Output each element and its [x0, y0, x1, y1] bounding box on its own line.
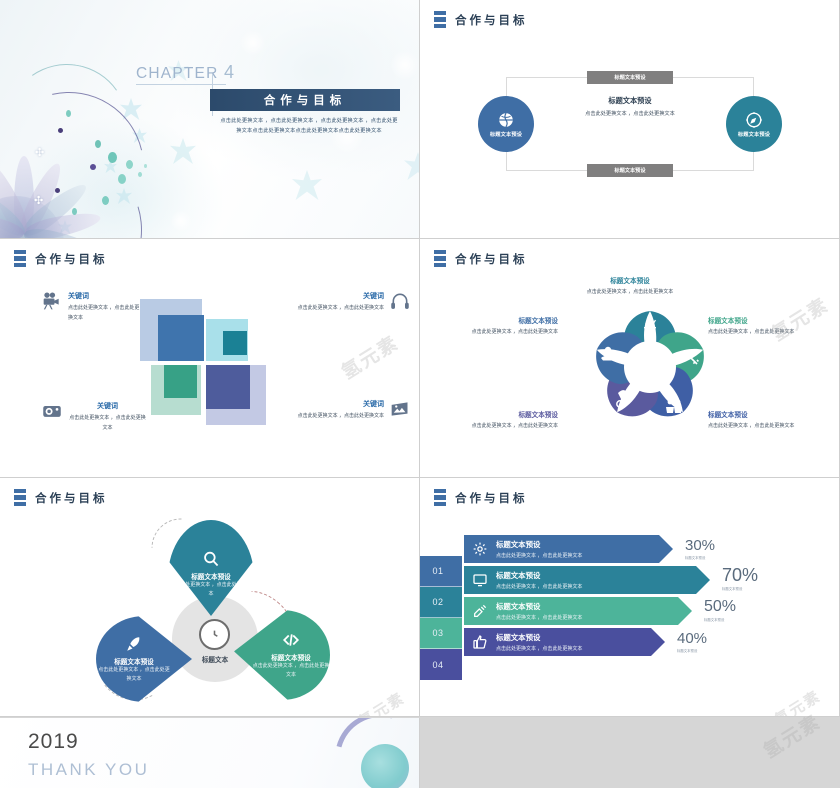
slide-header-title: 合作与目标 — [455, 251, 528, 267]
arrow-text-group: 标题文本预设 点击此处更换文本 ，点击此处更换文本 — [496, 539, 582, 559]
monitor-icon — [472, 572, 488, 588]
petal-title: 标题文本预设 — [271, 652, 311, 662]
movie-camera-icon — [42, 291, 62, 311]
slide-header-title: 合作与目标 — [455, 12, 528, 28]
slide-7-thank-you[interactable]: 2019 THANK YOU — [0, 718, 420, 788]
decor-ball — [361, 744, 409, 788]
header-bars-icon — [434, 489, 446, 506]
code-icon — [281, 631, 301, 649]
relationship-diagram: 标题文本预设 标题文本预设 标题文本预设 点击此处更换文本 ，点击此处更换文本 — [420, 40, 840, 235]
square-green — [164, 365, 197, 398]
cover-title-bar: 合作与目标 — [210, 89, 400, 111]
pinwheel-label-left[interactable]: 标题文本预设 点击此处更换文本 ，点击此处更换文本 — [436, 315, 558, 337]
watermark: 氢元素 — [354, 687, 408, 717]
arrow-body: 点击此处更换文本 ，点击此处更换文本 — [496, 645, 582, 652]
photo-icon — [390, 399, 410, 419]
keyword-title: 关键词 — [298, 291, 384, 301]
percent-sublabel: 标题文本预设 — [722, 586, 758, 591]
center-body: 点击此处更换文本 ，点击此处更换文本 — [562, 110, 698, 119]
percent-block-4: 40% 标题文本预设 — [677, 631, 707, 653]
arrow-text-group: 标题文本预设 点击此处更换文本 ，点击此处更换文本 — [496, 632, 582, 652]
arrow-row-3[interactable]: 标题文本预设 点击此处更换文本 ，点击此处更换文本 — [464, 597, 692, 625]
chapter-label: CHAPTER 4 — [136, 62, 235, 83]
arrow-row-1[interactable]: 标题文本预设 点击此处更换文本 ，点击此处更换文本 — [464, 535, 673, 563]
arrow-title: 标题文本预设 — [496, 601, 582, 612]
decor-dot — [90, 164, 96, 170]
watermark: 氢元素 — [770, 685, 824, 717]
number-tab-02[interactable]: 02 — [420, 587, 462, 618]
percent-block-2: 70% 标题文本预设 — [722, 566, 758, 591]
headphones-icon — [390, 291, 410, 311]
arrow-body: 点击此处更换文本 ，点击此处更换文本 — [496, 552, 582, 559]
percent-sublabel: 标题文本预设 — [685, 555, 715, 560]
pinwheel-label-bottom-left[interactable]: 标题文本预设 点击此处更换文本 ，点击此处更换文本 — [436, 409, 558, 431]
percent-block-3: 50% 标题文本预设 — [704, 599, 736, 622]
number-tab-label: 01 — [432, 566, 443, 576]
pinwheel-label-title: 标题文本预设 — [436, 315, 558, 325]
pinwheel-label-bottom-right[interactable]: 标题文本预设 点击此处更换文本 ，点击此处更换文本 — [708, 409, 830, 431]
arrow-row-4[interactable]: 标题文本预设 点击此处更换文本 ，点击此处更换文本 — [464, 628, 665, 656]
pinwheel-diagram — [586, 301, 714, 431]
pinwheel-label-title: 标题文本预设 — [708, 409, 830, 419]
slide-4-five-blade-pinwheel[interactable]: 合作与目标 — [420, 239, 840, 478]
percent-value: 70% — [722, 566, 758, 584]
slide-header-title: 合作与目标 — [35, 490, 108, 506]
decor-dot — [58, 128, 63, 133]
keyword-text-group: 关键词 点击此处更换文本 ，点击此处更换文本 — [298, 399, 384, 422]
slide-header: 合作与目标 — [14, 489, 108, 506]
keyword-body: 点击此处更换文本 ，点击此处更换文本 — [298, 304, 384, 314]
chapter-number: 4 — [224, 62, 235, 82]
slide-header: 合作与目标 — [434, 489, 528, 506]
keyword-title: 关键词 — [68, 291, 140, 301]
square-purple — [206, 365, 250, 409]
right-circle-label: 标题文本预设 — [738, 131, 770, 138]
pinwheel-glyph-top — [644, 320, 656, 333]
decorative-squares-cluster — [140, 299, 270, 424]
chapter-word: CHAPTER — [136, 65, 218, 82]
decor-dot — [118, 174, 126, 184]
keyword-text-group: 关键词 点击此处更换文本 ，点击此处更换文本 — [68, 401, 147, 433]
pinwheel-label-title: 标题文本预设 — [708, 315, 830, 325]
percent-block-1: 30% 标题文本预设 — [685, 538, 715, 560]
percent-value: 40% — [677, 631, 707, 646]
keyword-block-bottom-right[interactable]: 关键词 点击此处更换文本 ，点击此处更换文本 — [280, 399, 410, 422]
percent-value: 30% — [685, 538, 715, 553]
pinwheel-label-body: 点击此处更换文本 ，点击此处更换文本 — [550, 288, 710, 297]
thumbsup-icon — [472, 634, 488, 650]
keyword-title: 关键词 — [298, 399, 384, 409]
slides-grid: ✣ ✣ CHAPTER 4 合作与目标 点击此处更换文本 ，点击此处更换文本 ，… — [0, 0, 840, 717]
pinwheel-label-right[interactable]: 标题文本预设 点击此处更换文本 ，点击此处更换文本 — [708, 315, 830, 337]
slide-header-title: 合作与目标 — [455, 490, 528, 506]
cover-body-text: 点击此处更换文本 ，点击此处更换文本 ，点击此处更换文本 ，点击此处更换文本点击… — [218, 117, 400, 136]
pinwheel-label-title: 标题文本预设 — [436, 409, 558, 419]
arrow-text-group: 标题文本预设 点击此处更换文本 ，点击此处更换文本 — [496, 570, 582, 590]
watermark: 氢元素 — [336, 328, 404, 384]
arrow-row-2[interactable]: 标题文本预设 点击此处更换文本 ，点击此处更换文本 — [464, 566, 710, 594]
header-bars-icon — [14, 250, 26, 267]
center-clock-badge — [199, 619, 230, 650]
pinwheel-label-body: 点击此处更换文本 ，点击此处更换文本 — [436, 422, 558, 431]
decor-dot — [102, 196, 109, 205]
search-icon — [202, 550, 220, 568]
right-circle-node[interactable]: 标题文本预设 — [726, 96, 782, 152]
header-bars-icon — [14, 489, 26, 506]
arrow-title: 标题文本预设 — [496, 632, 582, 643]
compass-icon — [745, 111, 763, 129]
pinwheel-label-body: 点击此处更换文本 ，点击此处更换文本 — [436, 328, 558, 337]
pinwheel-label-title: 标题文本预设 — [550, 275, 710, 285]
petal-title: 标题文本预设 — [191, 571, 231, 581]
decor-dot — [55, 188, 60, 193]
clock-icon — [206, 626, 223, 643]
top-label-text: 标题文本预设 — [614, 74, 645, 81]
keyword-text-group: 关键词 点击此处更换文本 ，点击此处更换文本 — [68, 291, 140, 323]
center-label: 标题文本 — [175, 654, 255, 664]
decor-dot — [72, 208, 77, 215]
petal-title: 标题文本预设 — [114, 656, 154, 666]
cover-title: 合作与目标 — [264, 92, 347, 108]
number-tab-label: 04 — [432, 660, 443, 670]
number-tab-label: 03 — [432, 628, 443, 638]
keyword-block-top-left[interactable]: 关键词 点击此处更换文本 ，点击此处更换文本 — [42, 291, 140, 323]
keyword-body: 点击此处更换文本 ，点击此处更换文本 — [68, 304, 140, 323]
keyword-block-bottom-left[interactable]: 关键词 点击此处更换文本 ，点击此处更换文本 — [42, 401, 147, 433]
slide-header-title: 合作与目标 — [35, 251, 108, 267]
decor-dot — [138, 172, 142, 177]
petal-body: 点击此处更换文本 ，点击此处更换文本 — [96, 666, 172, 684]
slide-header: 合作与目标 — [434, 11, 528, 28]
keyword-body: 点击此处更换文本 ，点击此处更换文本 — [68, 414, 147, 433]
thanks-decoration — [335, 718, 420, 788]
keyword-body: 点击此处更换文本 ，点击此处更换文本 — [298, 412, 384, 422]
left-circle-node[interactable]: 标题文本预设 — [478, 96, 534, 152]
pinwheel-hollow-center — [624, 341, 676, 393]
square-blue — [158, 315, 204, 361]
percent-sublabel: 标题文本预设 — [677, 648, 707, 653]
arrow-body: 点击此处更换文本 ，点击此处更换文本 — [496, 614, 582, 621]
gear-icon — [472, 541, 488, 557]
decor-dot — [108, 152, 117, 163]
center-text-block: 标题文本预设 点击此处更换文本 ，点击此处更换文本 — [562, 96, 698, 119]
pinwheel-label-body: 点击此处更换文本 ，点击此处更换文本 — [708, 422, 830, 431]
bottom-label-bar[interactable]: 标题文本预设 — [587, 164, 673, 177]
square-teal — [223, 331, 247, 355]
number-tab-label: 02 — [432, 597, 443, 607]
slide-1-chapter-cover[interactable]: ✣ ✣ CHAPTER 4 合作与目标 点击此处更换文本 ，点击此处更换文本 ，… — [0, 0, 420, 239]
arrow-text-group: 标题文本预设 点击此处更换文本 ，点击此处更换文本 — [496, 601, 582, 621]
arrow-title: 标题文本预设 — [496, 539, 582, 550]
center-title: 标题文本预设 — [562, 96, 698, 106]
globe-icon — [497, 111, 515, 129]
keyword-text-group: 关键词 点击此处更换文本 ，点击此处更换文本 — [298, 291, 384, 314]
slide-5-three-petal[interactable]: 合作与目标 标题文本预设 点击此处更换文本 ，点击此处更换文本 — [0, 478, 420, 717]
pinwheel-label-top[interactable]: 标题文本预设 点击此处更换文本 ，点击此处更换文本 — [550, 275, 710, 297]
slide-thumbnail-board: ✣ ✣ CHAPTER 4 合作与目标 点击此处更换文本 ，点击此处更换文本 ，… — [0, 0, 840, 788]
rocket-icon — [125, 635, 143, 653]
pinwheel-label-body: 点击此处更换文本 ，点击此处更换文本 — [708, 328, 830, 337]
header-bars-icon — [434, 250, 446, 267]
arrow-title: 标题文本预设 — [496, 570, 582, 581]
year-label: 2019 — [28, 730, 79, 754]
slide-6-arrow-list[interactable]: 合作与目标 01 02 03 04 标题文本预设 点击此处更换文本 ，点击此处更… — [420, 478, 840, 717]
header-bars-icon — [434, 11, 446, 28]
camera-icon — [42, 401, 62, 421]
number-tab-04[interactable]: 04 — [420, 649, 462, 680]
decor-dot — [95, 140, 101, 148]
top-label-bar[interactable]: 标题文本预设 — [587, 71, 673, 84]
percent-sublabel: 标题文本预设 — [704, 617, 736, 622]
slide-header: 合作与目标 — [434, 250, 528, 267]
butterfly-icon: ✣ — [35, 148, 44, 159]
decor-dot — [126, 160, 133, 169]
paintbrush-icon — [472, 603, 488, 619]
decor-dot — [66, 110, 71, 117]
slide-3-keyword-squares[interactable]: 合作与目标 关键词 — [0, 239, 420, 478]
decor-dot — [144, 164, 147, 168]
keyword-block-top-right[interactable]: 关键词 点击此处更换文本 ，点击此处更换文本 — [280, 291, 410, 314]
thanks-label: THANK YOU — [28, 760, 149, 780]
left-circle-label: 标题文本预设 — [490, 131, 522, 138]
arrow-body: 点击此处更换文本 ，点击此处更换文本 — [496, 583, 582, 590]
keyword-title: 关键词 — [68, 401, 147, 411]
slide-2-two-circles[interactable]: 合作与目标 标题文本预设 标题文本预设 标题文本预设 点击此处更换文本 ，点击此… — [420, 0, 840, 239]
bottom-label-text: 标题文本预设 — [614, 167, 645, 174]
diagram-frame — [506, 77, 754, 171]
number-tab-01[interactable]: 01 — [420, 556, 462, 587]
number-tab-03[interactable]: 03 — [420, 618, 462, 649]
slide-header: 合作与目标 — [14, 250, 108, 267]
petal-body: 点击此处更换文本 ，点击此处更换文本 — [252, 662, 330, 680]
butterfly-icon: ✣ — [34, 196, 43, 207]
percent-value: 50% — [704, 599, 736, 615]
